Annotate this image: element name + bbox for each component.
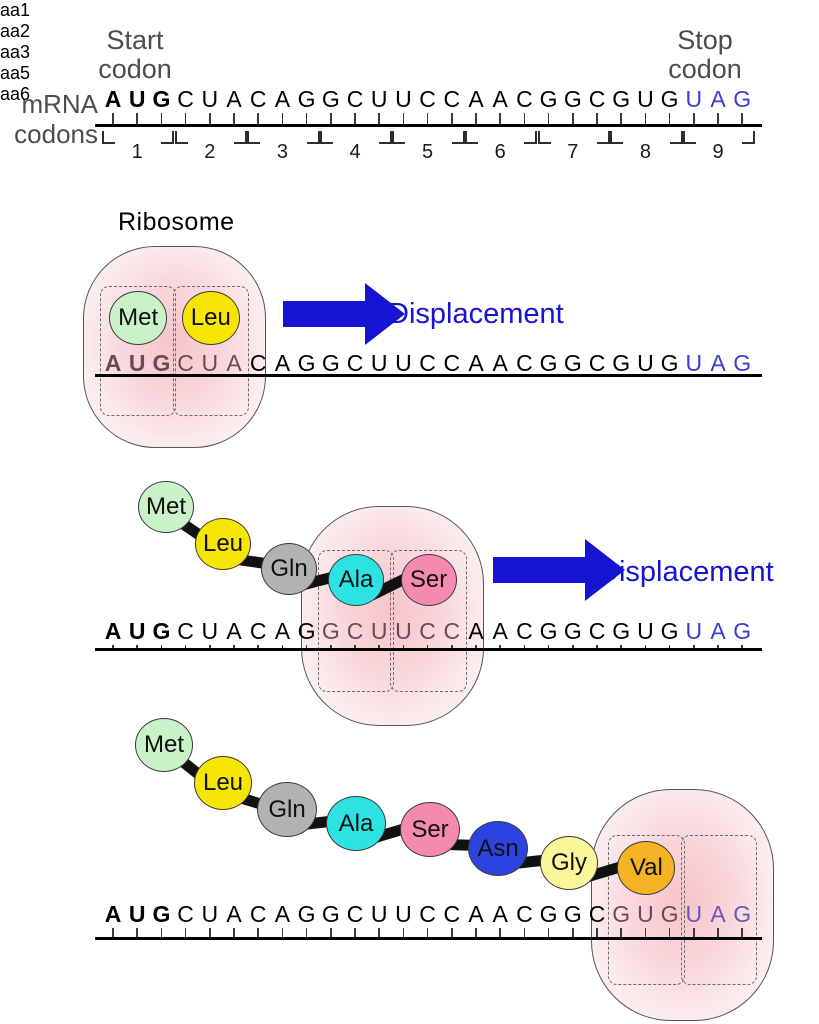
displacement-arrow-head	[585, 539, 625, 601]
mrna-base: C	[415, 903, 441, 926]
mrna-base: C	[245, 903, 271, 926]
base-tick	[596, 928, 598, 937]
amino-acid-met: Met	[135, 718, 193, 772]
mrna-base: G	[148, 903, 174, 926]
mrna-base: C	[511, 903, 537, 926]
base-tick	[112, 928, 114, 937]
mrna-base: G	[318, 903, 344, 926]
amino-acid-val: Val	[617, 841, 675, 895]
mrna-base: G	[536, 903, 562, 926]
base-tick	[499, 928, 501, 937]
mrna-base: A	[487, 903, 513, 926]
amino-acid-met: Met	[138, 481, 194, 533]
displacement-arrow-head	[365, 283, 405, 345]
mrna-base: A	[100, 903, 126, 926]
mrna-base: U	[681, 903, 707, 926]
base-tick	[209, 928, 211, 937]
base-tick	[282, 928, 284, 937]
amino-acid-gln: Gln	[261, 543, 317, 595]
base-tick	[693, 928, 695, 937]
displacement-arrow-shaft	[283, 301, 365, 327]
mrna-base: C	[342, 903, 368, 926]
mrna-strand-line	[95, 937, 762, 940]
base-tick	[524, 928, 526, 937]
base-tick	[572, 928, 574, 937]
displacement-arrow-shaft	[493, 557, 585, 583]
amino-acid-leu: Leu	[182, 291, 240, 345]
base-tick	[548, 928, 550, 937]
amino-acid-gln: Gln	[257, 782, 317, 837]
panel-3: AUGCUACAGGCUUCCAACGGCGUGUAGMetLeuGlnAlaS…	[0, 0, 819, 1024]
mrna-base: A	[221, 903, 247, 926]
amino-acid-ala: Ala	[326, 796, 386, 851]
mrna-base: U	[124, 903, 150, 926]
base-tick	[306, 928, 308, 937]
base-tick	[185, 928, 187, 937]
mrna-base: U	[366, 903, 392, 926]
base-tick	[403, 928, 405, 937]
base-tick	[717, 928, 719, 937]
amino-acid-gly: Gly	[540, 836, 598, 890]
amino-acid-leu: Leu	[194, 756, 252, 810]
amino-acid-ala: Ala	[328, 554, 384, 606]
mrna-base: G	[729, 903, 755, 926]
mrna-base: U	[632, 903, 658, 926]
amino-acid-ser: Ser	[400, 802, 460, 857]
base-tick	[257, 928, 259, 937]
mrna-base: C	[584, 903, 610, 926]
mrna-base: G	[657, 903, 683, 926]
base-tick	[378, 928, 380, 937]
base-tick	[620, 928, 622, 937]
base-tick	[354, 928, 356, 937]
mrna-base: U	[390, 903, 416, 926]
base-tick	[741, 928, 743, 937]
base-tick	[669, 928, 671, 937]
translation-diagram: Start codon Stop codon mRNA codons AUGCU…	[0, 0, 819, 1024]
base-tick	[233, 928, 235, 937]
mrna-base: G	[608, 903, 634, 926]
base-tick	[645, 928, 647, 937]
mrna-base: A	[269, 903, 295, 926]
amino-acid-ser: Ser	[401, 554, 457, 606]
base-tick	[475, 928, 477, 937]
mrna-base: C	[173, 903, 199, 926]
base-tick	[161, 928, 163, 937]
mrna-base: C	[439, 903, 465, 926]
mrna-base: G	[294, 903, 320, 926]
amino-acid-asn: Asn	[468, 821, 528, 876]
mrna-base: A	[705, 903, 731, 926]
base-tick	[330, 928, 332, 937]
amino-acid-met: Met	[109, 291, 167, 345]
mrna-base: A	[463, 903, 489, 926]
mrna-base: U	[197, 903, 223, 926]
amino-acid-leu: Leu	[195, 518, 251, 570]
base-tick	[136, 928, 138, 937]
mrna-base: G	[560, 903, 586, 926]
base-tick	[451, 928, 453, 937]
base-tick	[427, 928, 429, 937]
